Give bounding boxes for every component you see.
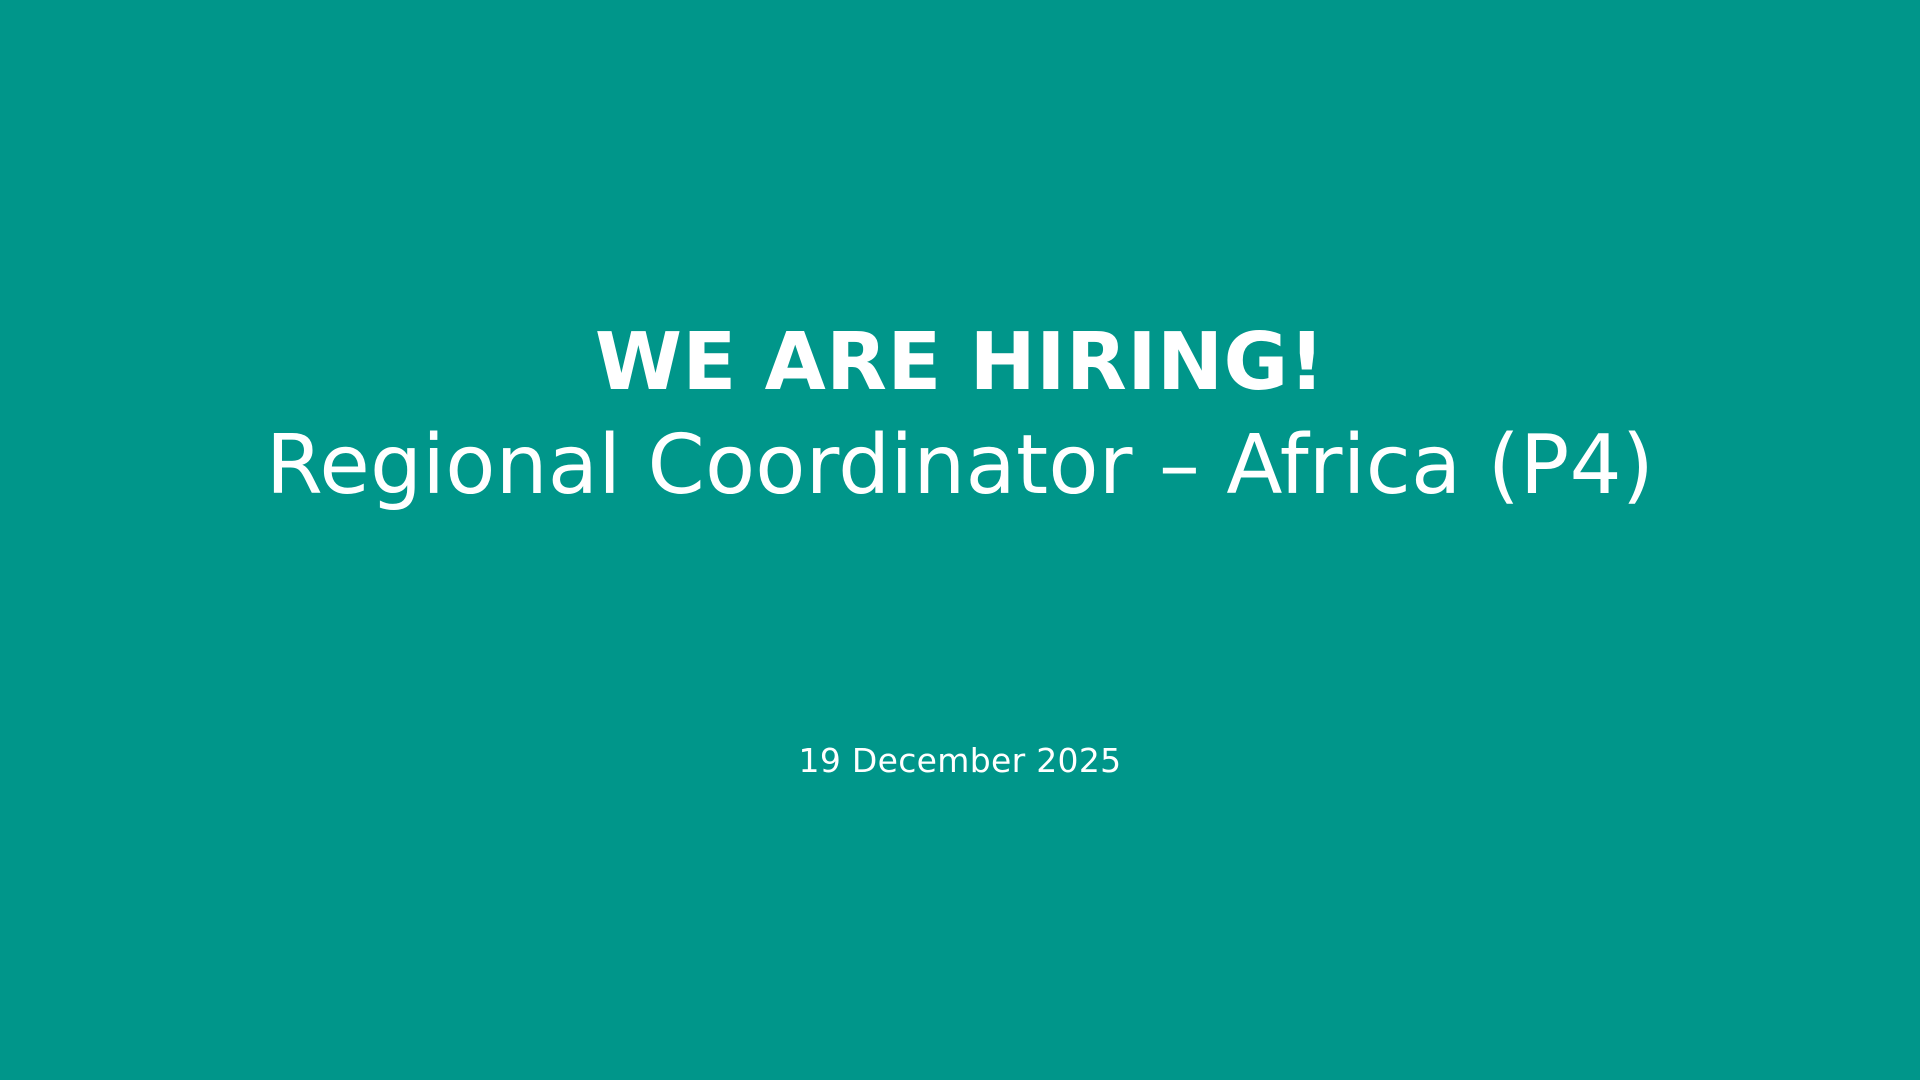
presentation-slide: WE ARE HIRING! Regional Coordinator – Af… [0,0,1920,1080]
page-subtitle: Regional Coordinator – Africa (P4) [0,420,1920,512]
page-title: WE ARE HIRING! [0,318,1920,406]
slide-date: 19 December 2025 [0,740,1920,782]
heading-block: WE ARE HIRING! Regional Coordinator – Af… [0,318,1920,512]
